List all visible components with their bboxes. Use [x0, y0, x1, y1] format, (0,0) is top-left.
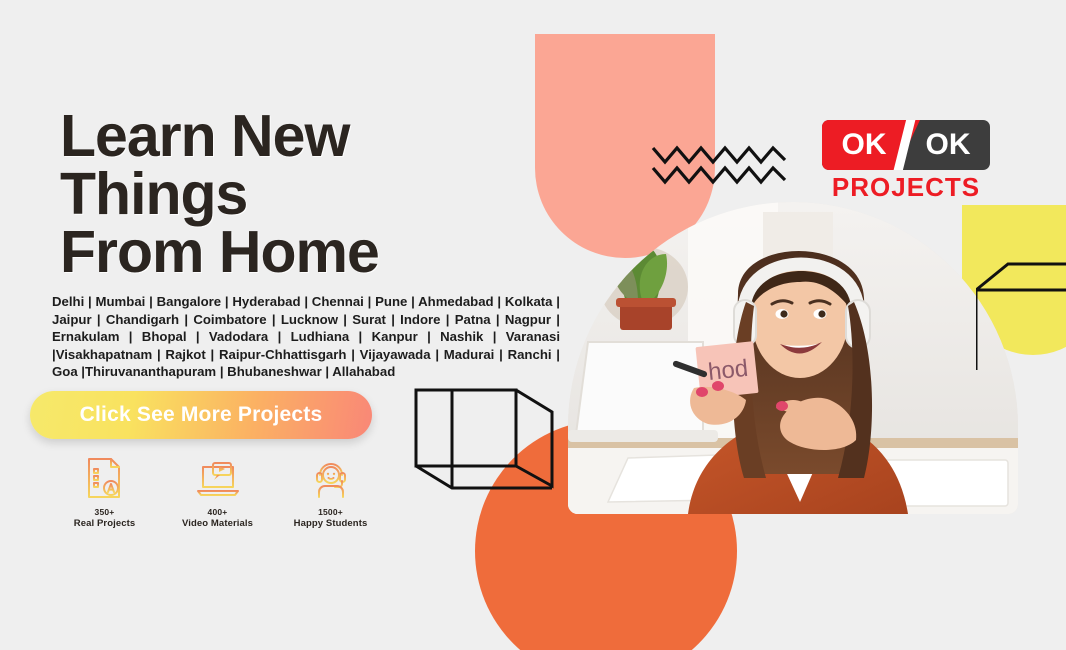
stat-real-projects: 350+ Real Projects [48, 455, 161, 529]
stat-value: 1500+ [318, 507, 343, 517]
logo-ok-right: OK [906, 128, 990, 162]
document-checklist-icon [82, 455, 128, 501]
brand-logo[interactable]: OK OK PROJECTS [822, 120, 992, 203]
logo-mark: OK OK [822, 120, 990, 170]
stat-value: 400+ [208, 507, 228, 517]
stat-video-materials: 400+ Video Materials [161, 455, 274, 529]
page-title: Learn New Things From Home [60, 108, 379, 281]
stat-label: Real Projects [74, 518, 136, 529]
stats-row: 350+ Real Projects [48, 455, 388, 529]
logo-subtitle: PROJECTS [822, 172, 990, 203]
wireframe-cube-right-icon [976, 230, 1066, 370]
logo-ok-left: OK [822, 128, 906, 162]
stat-happy-students: 1500+ Happy Students [274, 455, 387, 529]
sticky-note-text: hod [707, 355, 750, 386]
wireframe-cube-left-icon [408, 382, 560, 498]
laptop-video-icon [195, 455, 241, 501]
stat-label: Happy Students [294, 518, 368, 529]
stat-label: Video Materials [182, 518, 253, 529]
promo-banner: hod Learn New Things From Home Delhi | M… [0, 0, 1066, 650]
city-list: Delhi | Mumbai | Bangalore | Hyderabad |… [52, 293, 560, 381]
see-more-projects-button[interactable]: Click See More Projects [30, 391, 372, 439]
zigzag-decoration-icon [651, 142, 791, 188]
logo-text-row: OK OK [822, 120, 990, 170]
stat-value: 350+ [95, 507, 115, 517]
headset-person-icon [308, 455, 354, 501]
